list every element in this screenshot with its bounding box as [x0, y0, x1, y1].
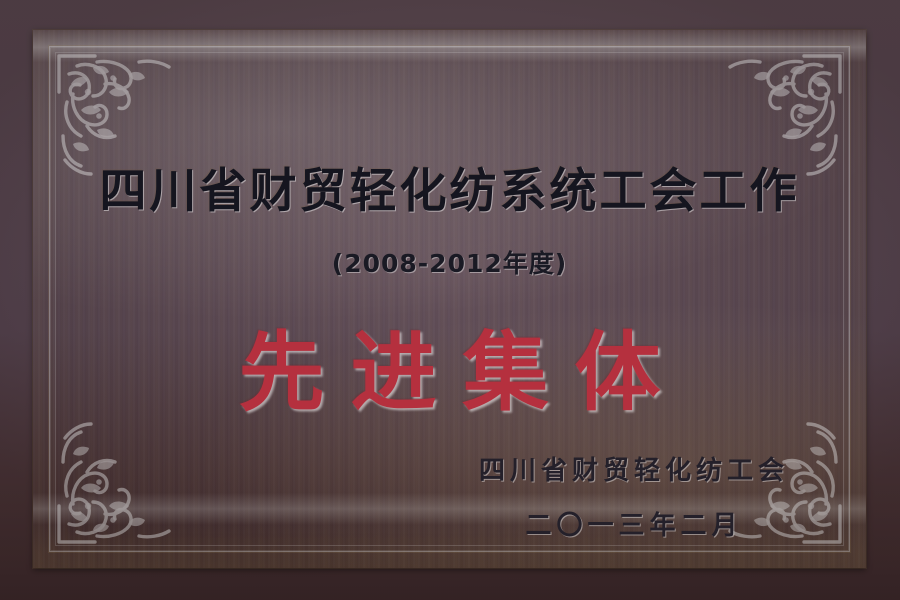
plaque-main-title: 四川省财贸轻化纺系统工会工作	[33, 152, 866, 221]
plaque-content: 四川省财贸轻化纺系统工会工作 (2008-2012年度) 先进集体 四川省财贸轻…	[33, 30, 866, 568]
photo-frame: 四川省财贸轻化纺系统工会工作 (2008-2012年度) 先进集体 四川省财贸轻…	[0, 0, 900, 600]
signature-organization: 四川省财贸轻化纺工会	[474, 450, 789, 487]
plaque-award-title: 先进集体	[33, 302, 866, 427]
plaque-subtitle-period: (2008-2012年度)	[33, 244, 866, 280]
signature-date: 二〇一三年二月	[474, 505, 789, 542]
award-plaque: 四川省财贸轻化纺系统工会工作 (2008-2012年度) 先进集体 四川省财贸轻…	[33, 30, 866, 568]
plaque-signature-block: 四川省财贸轻化纺工会 二〇一三年二月	[474, 450, 789, 542]
